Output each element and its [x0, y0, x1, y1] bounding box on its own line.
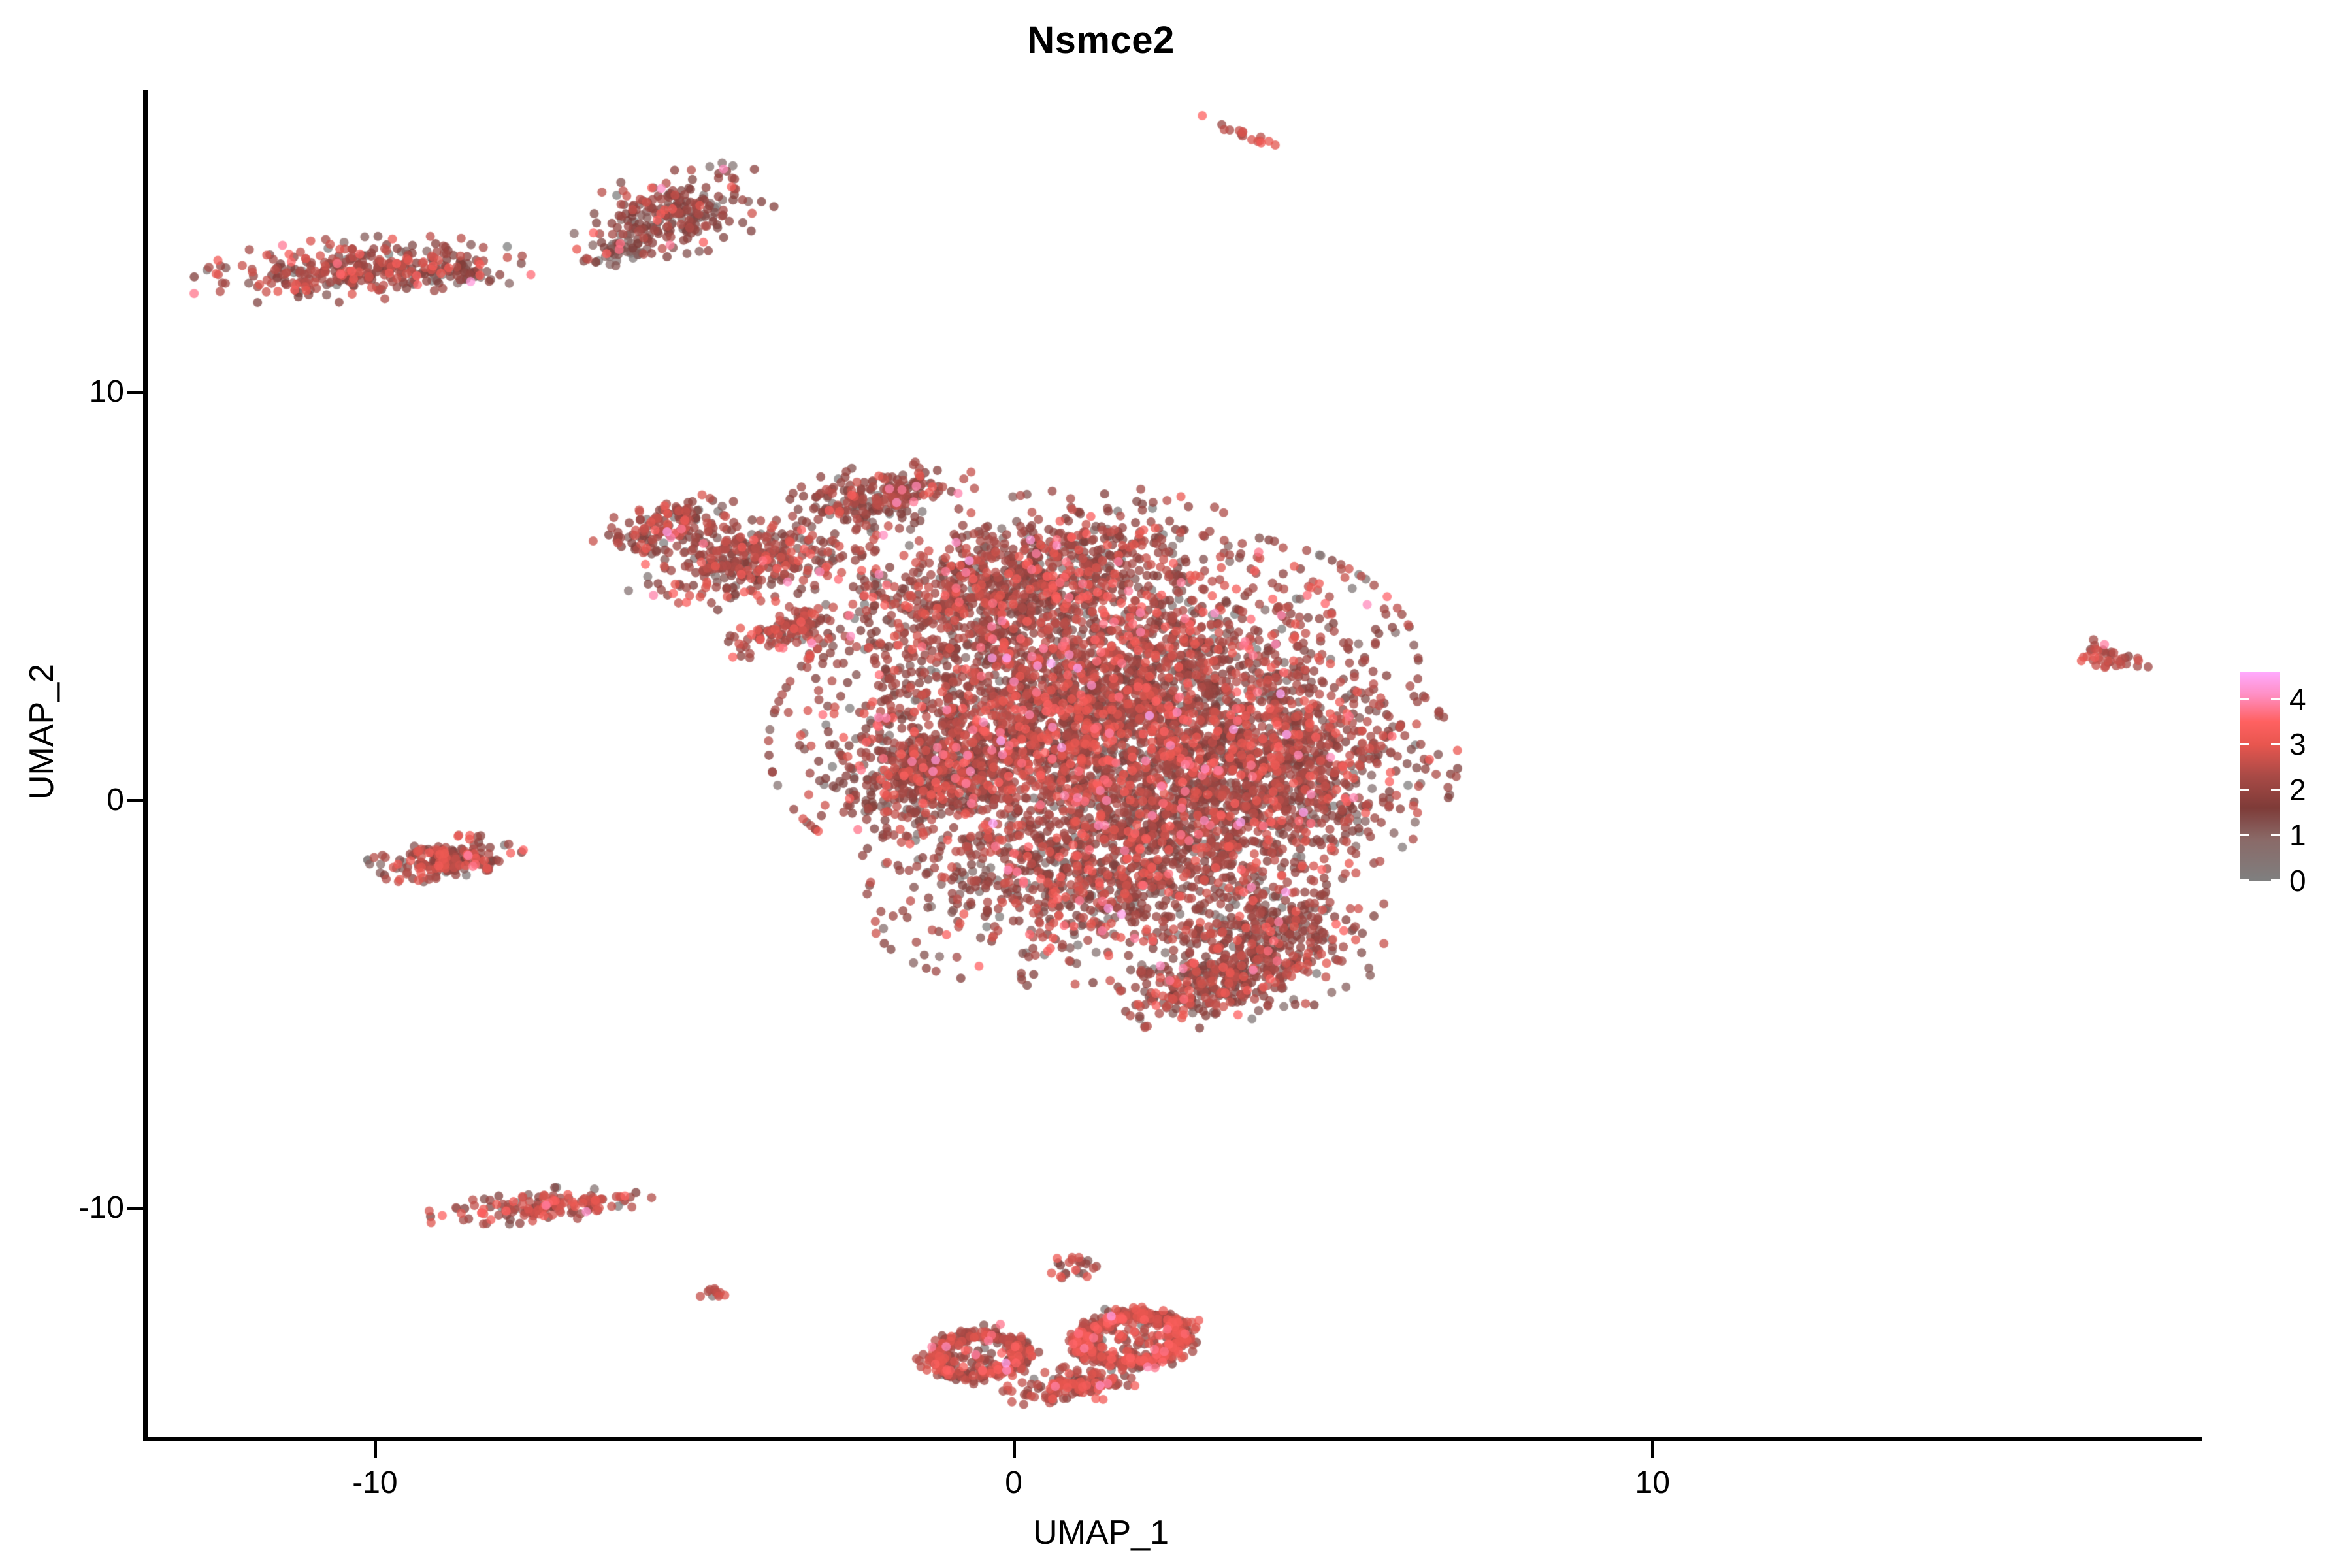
legend-label: 0 [2289, 866, 2306, 896]
x-tick-label: 10 [1635, 1465, 1670, 1501]
y-tick-mark [127, 391, 144, 394]
scatter-plot-canvas [145, 90, 2202, 1437]
y-tick-label: -10 [79, 1190, 124, 1226]
y-tick-mark [127, 799, 144, 802]
x-axis-line [143, 1437, 2202, 1441]
color-legend: 43210 [2240, 672, 2336, 881]
x-tick-label: 0 [1005, 1465, 1022, 1501]
y-axis-title: UMAP_2 [22, 568, 61, 895]
legend-label: 4 [2289, 684, 2306, 714]
legend-label: 3 [2289, 729, 2306, 759]
legend-tick-mark [2240, 789, 2249, 791]
x-axis-title: UMAP_1 [0, 1513, 2202, 1552]
legend-tick-mark [2240, 834, 2249, 836]
x-tick-mark [374, 1441, 377, 1458]
x-tick-mark [1013, 1441, 1016, 1458]
y-tick-label: 10 [90, 374, 124, 410]
x-tick-label: -10 [352, 1465, 397, 1501]
legend-label: 1 [2289, 820, 2306, 850]
umap-feature-plot: Nsmce2 100-10-10010 UMAP_2 UMAP_1 43210 [0, 0, 2352, 1568]
page-title: Nsmce2 [0, 18, 2202, 62]
legend-colorbar [2240, 672, 2280, 881]
legend-tick-mark [2271, 789, 2280, 791]
legend-tick-mark [2240, 698, 2249, 700]
legend-tick-mark [2240, 743, 2249, 745]
legend-tick-mark [2240, 879, 2249, 882]
legend-tick-mark [2271, 698, 2280, 700]
y-tick-label: 0 [106, 782, 124, 818]
legend-tick-mark [2271, 834, 2280, 836]
legend-tick-mark [2271, 743, 2280, 745]
legend-tick-mark [2271, 879, 2280, 882]
legend-label: 2 [2289, 775, 2306, 805]
x-tick-mark [1651, 1441, 1654, 1458]
y-tick-mark [127, 1207, 144, 1210]
